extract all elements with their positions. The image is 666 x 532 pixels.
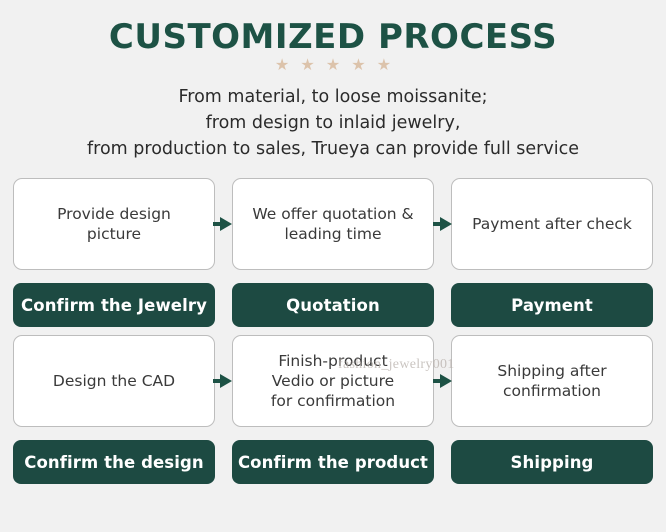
star-rating [0, 58, 666, 74]
step-box-line: confirmation [497, 381, 606, 401]
step-bar-label: Confirm the design [24, 453, 204, 472]
process-step-1: Provide design picture Confirm the Jewel… [13, 178, 215, 327]
step-bar-label: Payment [511, 296, 593, 315]
subtitle: From material, to loose moissanite; from… [0, 84, 666, 162]
arrow-right-icon [213, 373, 233, 389]
process-step-4: Design the CAD Confirm the design [13, 335, 215, 484]
star-icon [352, 58, 365, 71]
step-bar[interactable]: Confirm the product [232, 440, 434, 484]
step-bar-label: Quotation [286, 296, 380, 315]
step-box-line: Design the CAD [53, 371, 175, 391]
step-box[interactable]: Finish-product Vedio or picture for conf… [232, 335, 434, 427]
star-icon [327, 58, 340, 71]
step-box[interactable]: Provide design picture [13, 178, 215, 270]
process-row-1: Provide design picture Confirm the Jewel… [0, 178, 666, 327]
step-box-line: Vedio or picture [271, 371, 395, 391]
process-step-5: Finish-product Vedio or picture for conf… [232, 335, 434, 484]
step-box-text: Shipping after confirmation [497, 361, 606, 401]
step-box[interactable]: Design the CAD [13, 335, 215, 427]
arrow-right-icon [213, 216, 233, 232]
arrow-right-icon [433, 216, 453, 232]
customized-process-infographic: CUSTOMIZED PROCESS From material, to loo… [0, 0, 666, 532]
process-flow: Provide design picture Confirm the Jewel… [0, 178, 666, 484]
step-bar-label: Shipping [511, 453, 594, 472]
step-box-line: Shipping after [497, 361, 606, 381]
step-box-text: Provide design picture [57, 204, 171, 244]
star-icon [377, 58, 390, 71]
star-icon [276, 58, 289, 71]
step-bar[interactable]: Shipping [451, 440, 653, 484]
step-box-line: Payment after check [472, 214, 632, 234]
step-bar[interactable]: Payment [451, 283, 653, 327]
step-box-line: for confirmation [271, 391, 395, 411]
arrow-right-icon [433, 373, 453, 389]
header: CUSTOMIZED PROCESS From material, to loo… [0, 0, 666, 162]
process-step-6: Shipping after confirmation Shipping [451, 335, 653, 484]
page-title: CUSTOMIZED PROCESS [0, 18, 666, 56]
step-box-text: Payment after check [472, 214, 632, 234]
process-step-2: We offer quotation & leading time Quotat… [232, 178, 434, 327]
step-bar[interactable]: Confirm the Jewelry [13, 283, 215, 327]
step-box-line: picture [57, 224, 171, 244]
step-box-line: Finish-product [271, 351, 395, 371]
subtitle-line: from design to inlaid jewelry, [0, 110, 666, 136]
step-box-line: leading time [252, 224, 413, 244]
star-icon [301, 58, 314, 71]
process-step-3: Payment after check Payment [451, 178, 653, 327]
step-box-text: Design the CAD [53, 371, 175, 391]
subtitle-line: From material, to loose moissanite; [0, 84, 666, 110]
step-box[interactable]: Shipping after confirmation [451, 335, 653, 427]
step-bar[interactable]: Quotation [232, 283, 434, 327]
step-bar-label: Confirm the Jewelry [21, 296, 207, 315]
step-bar-label: Confirm the product [238, 453, 428, 472]
step-box[interactable]: Payment after check [451, 178, 653, 270]
subtitle-line: from production to sales, Trueya can pro… [0, 136, 666, 162]
step-box-text: Finish-product Vedio or picture for conf… [271, 351, 395, 411]
process-row-2: Design the CAD Confirm the design Finish… [0, 335, 666, 484]
step-bar[interactable]: Confirm the design [13, 440, 215, 484]
step-box-line: We offer quotation & [252, 204, 413, 224]
step-box-line: Provide design [57, 204, 171, 224]
step-box-text: We offer quotation & leading time [252, 204, 413, 244]
step-box[interactable]: We offer quotation & leading time [232, 178, 434, 270]
